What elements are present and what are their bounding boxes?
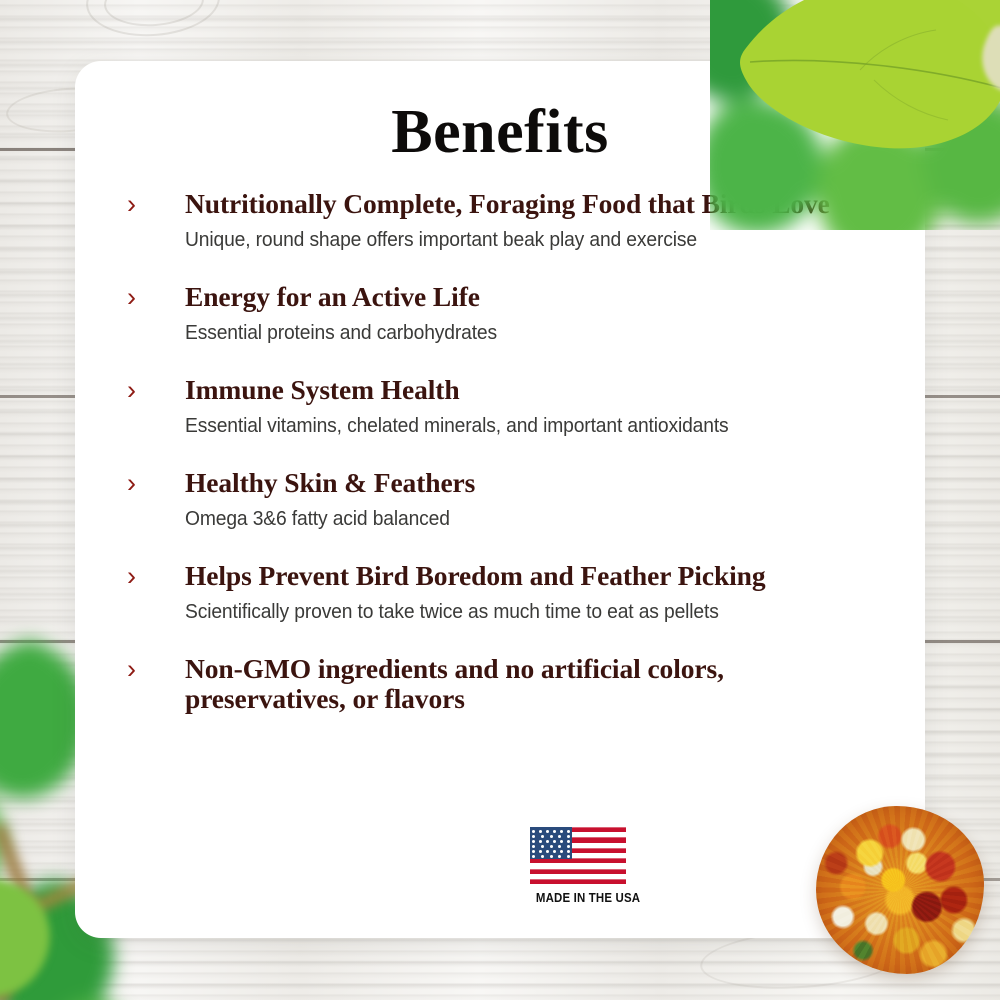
chevron-right-icon: › — [127, 189, 136, 219]
benefits-list: › Nutritionally Complete, Foraging Food … — [123, 189, 891, 722]
list-item: › Immune System Health Essential vitamin… — [123, 375, 891, 439]
benefit-title: Energy for an Active Life — [185, 282, 891, 312]
chevron-right-icon: › — [127, 375, 136, 405]
status-badge: MADE IN THE USA — [530, 827, 628, 905]
list-item: › Helps Prevent Bird Boredom and Feather… — [123, 561, 891, 625]
benefit-subtitle: Unique, round shape offers important bea… — [185, 227, 849, 253]
page-title: Benefits — [75, 97, 925, 168]
usa-flag-icon — [530, 827, 626, 885]
benefit-subtitle: Scientifically proven to take twice as m… — [185, 599, 849, 625]
list-item: › Energy for an Active Life Essential pr… — [123, 282, 891, 346]
benefit-subtitle: Essential vitamins, chelated minerals, a… — [185, 413, 849, 439]
product-benefits-graphic: Benefits › Nutritionally Complete, Forag… — [0, 0, 1000, 1000]
benefit-title: Immune System Health — [185, 375, 891, 405]
list-item: › Nutritionally Complete, Foraging Food … — [123, 189, 891, 253]
made-in-usa-label: MADE IN THE USA — [536, 890, 622, 905]
benefit-subtitle: Omega 3&6 fatty acid balanced — [185, 506, 849, 532]
list-item: › Healthy Skin & Feathers Omega 3&6 fatt… — [123, 468, 891, 532]
chevron-right-icon: › — [127, 468, 136, 498]
flag-canton — [530, 827, 572, 859]
benefit-title: Healthy Skin & Feathers — [185, 468, 891, 498]
list-item: › Non-GMO ingredients and no artificial … — [123, 654, 891, 714]
benefit-subtitle: Essential proteins and carbohydrates — [185, 320, 849, 346]
bird-food-ball-image — [816, 806, 984, 974]
benefit-title: Helps Prevent Bird Boredom and Feather P… — [185, 561, 891, 591]
benefit-title: Non-GMO ingredients and no artificial co… — [185, 654, 891, 714]
chevron-right-icon: › — [127, 282, 136, 312]
chevron-right-icon: › — [127, 561, 136, 591]
chevron-right-icon: › — [127, 654, 136, 684]
benefit-title: Nutritionally Complete, Foraging Food th… — [185, 189, 891, 219]
benefits-card: Benefits › Nutritionally Complete, Forag… — [75, 61, 925, 938]
